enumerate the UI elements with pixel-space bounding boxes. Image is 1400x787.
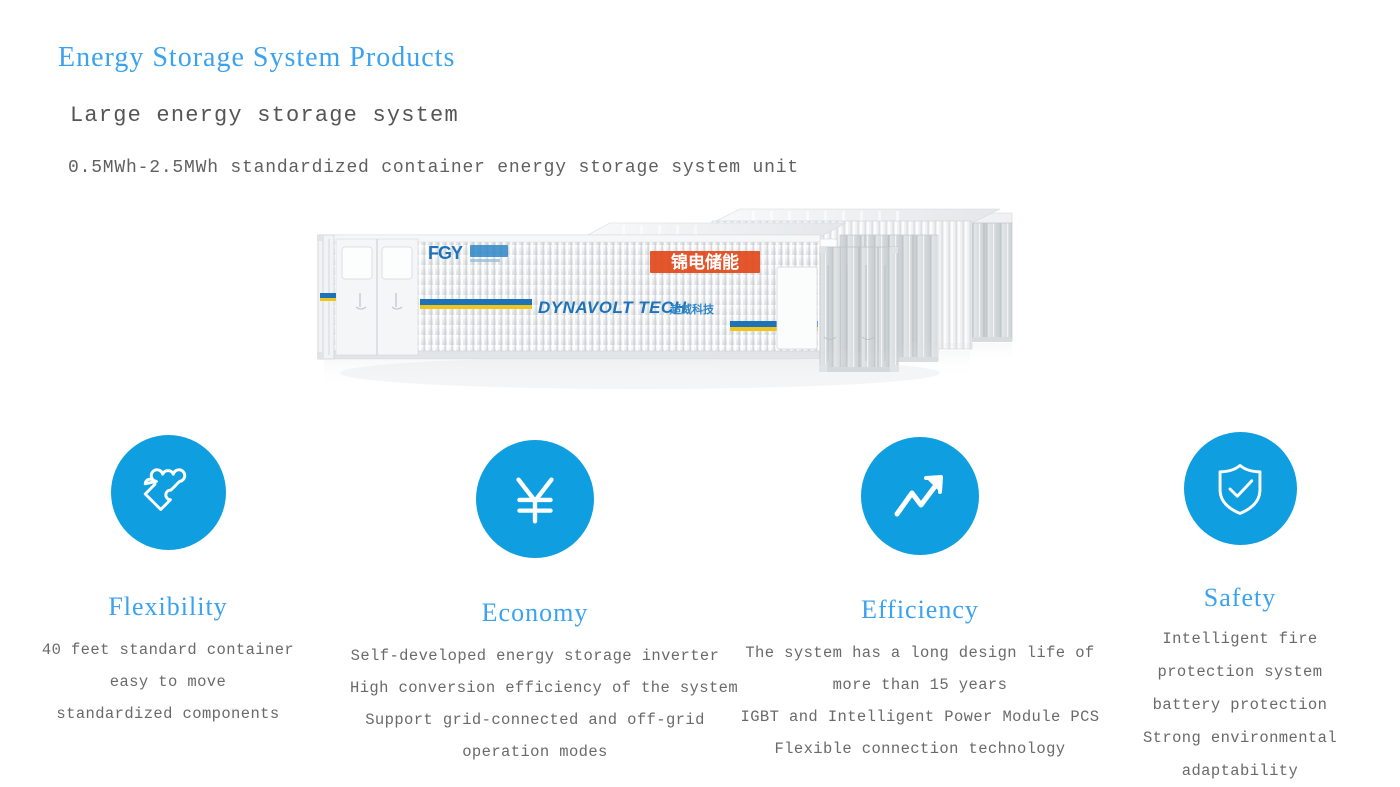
- feature-title-efficiency: Efficiency: [735, 595, 1105, 625]
- feature-desc-line: Self-developed energy storage inverter: [350, 640, 720, 672]
- feature-icon-circle-safety: [1184, 432, 1297, 545]
- feature-economy: Economy Self-developed energy storage in…: [350, 440, 720, 768]
- feature-desc-line: Strong environmental: [1090, 722, 1390, 755]
- feature-desc-line: High conversion efficiency of the system: [350, 672, 720, 704]
- product-spec-line: 0.5MWh-2.5MWh standardized container ene…: [68, 158, 799, 178]
- feature-icon-circle-efficiency: [861, 437, 979, 555]
- shield-check-icon: [1211, 460, 1269, 518]
- feature-flexibility: Flexibility 40 feet standard container e…: [18, 435, 318, 730]
- feature-desc-safety: Intelligent fire protection system batte…: [1090, 623, 1390, 787]
- feature-desc-line: adaptability: [1090, 755, 1390, 787]
- svg-text:超威科技: 超威科技: [669, 302, 715, 316]
- svg-text:FGY: FGY: [428, 243, 463, 263]
- feature-desc-line: The system has a long design life of: [735, 637, 1105, 669]
- feature-desc-line: easy to move: [18, 666, 318, 698]
- feature-desc-line: Flexible connection technology: [735, 733, 1105, 765]
- puzzle-piece-icon: [137, 462, 199, 524]
- feature-desc-line: 40 feet standard container: [18, 634, 318, 666]
- feature-desc-line: Intelligent fire: [1090, 623, 1390, 656]
- feature-title-safety: Safety: [1090, 583, 1390, 613]
- feature-desc-line: operation modes: [350, 736, 720, 768]
- feature-desc-efficiency: The system has a long design life of mor…: [735, 637, 1105, 765]
- feature-title-economy: Economy: [350, 598, 720, 628]
- yuan-currency-icon: [504, 468, 566, 530]
- feature-desc-economy: Self-developed energy storage inverter H…: [350, 640, 720, 768]
- hero-product-image: FGY 锦电储能 DYNAVOLT TECH 超威科技: [300, 195, 1030, 410]
- feature-title-flexibility: Flexibility: [18, 592, 318, 622]
- page-title: Energy Storage System Products: [58, 42, 455, 74]
- feature-desc-line: protection system: [1090, 656, 1390, 689]
- feature-desc-flexibility: 40 feet standard container easy to move …: [18, 634, 318, 730]
- section-subtitle: Large energy storage system: [70, 103, 459, 128]
- trend-arrow-up-icon: [888, 464, 952, 528]
- container-front: FGY 锦电储能 DYNAVOLT TECH 超威科技: [317, 223, 898, 372]
- feature-icon-circle-flexibility: [111, 435, 226, 550]
- feature-desc-line: battery protection: [1090, 689, 1390, 722]
- feature-desc-line: standardized components: [18, 698, 318, 730]
- feature-safety: Safety Intelligent fire protection syste…: [1090, 432, 1390, 787]
- feature-desc-line: IGBT and Intelligent Power Module PCS: [735, 701, 1105, 733]
- feature-highlights-row: Flexibility 40 feet standard container e…: [0, 425, 1400, 787]
- feature-icon-circle-economy: [476, 440, 594, 558]
- feature-desc-line: Support grid-connected and off-grid: [350, 704, 720, 736]
- feature-efficiency: Efficiency The system has a long design …: [735, 437, 1105, 765]
- feature-desc-line: more than 15 years: [735, 669, 1105, 701]
- svg-text:锦电储能: 锦电储能: [671, 252, 739, 273]
- svg-text:DYNAVOLT TECH: DYNAVOLT TECH: [538, 298, 687, 317]
- chinese-product-label: 锦电储能: [650, 251, 760, 273]
